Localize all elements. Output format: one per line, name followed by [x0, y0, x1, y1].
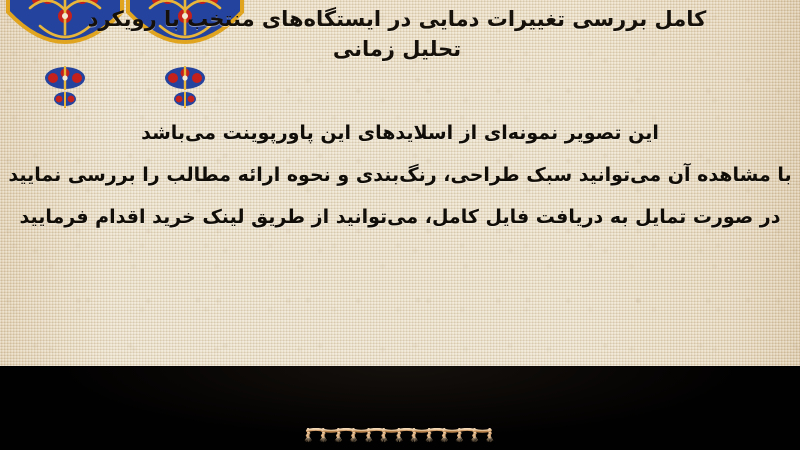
title-line-2: تحلیل زمانی	[8, 34, 786, 64]
slide-title: کامل بررسی تغییرات دمایی در ایستگاه‌های …	[8, 4, 786, 64]
body-line-3: در صورت تمایل به دریافت فایل کامل، می‌تو…	[0, 196, 800, 238]
carpet-bottom-border	[0, 354, 800, 450]
presentation-slide: کامل بررسی تغییرات دمایی در ایستگاه‌های …	[0, 0, 800, 450]
body-line-2: با مشاهده آن می‌توانید سبک طراحی، رنگ‌بن…	[0, 154, 800, 196]
body-line-1: این تصویر نمونه‌ای از اسلایدهای این پاور…	[0, 112, 800, 154]
carpet-fringe-icon	[0, 428, 800, 450]
title-line-1: کامل بررسی تغییرات دمایی در ایستگاه‌های …	[8, 4, 786, 34]
slide-body: این تصویر نمونه‌ای از اسلایدهای این پاور…	[0, 112, 800, 238]
